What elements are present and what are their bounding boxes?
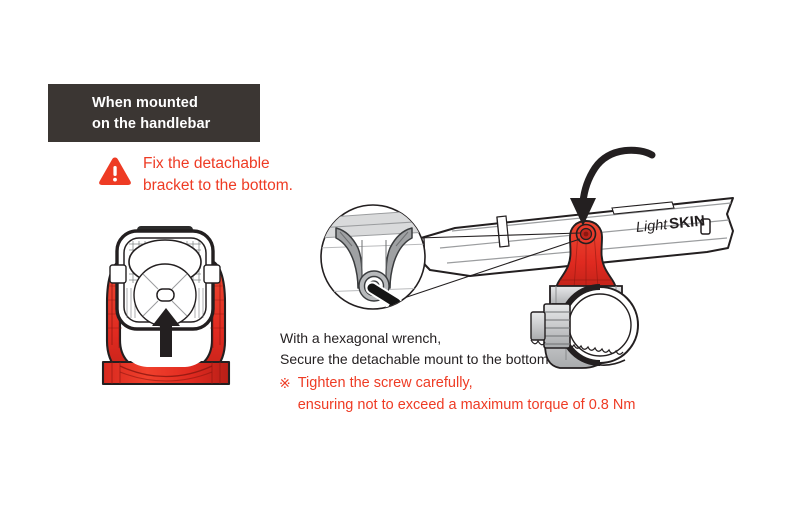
header-line-1: When mounted	[92, 93, 260, 114]
reference-mark-icon: ※	[279, 372, 291, 394]
warning-line-1: Fix the detachable	[143, 153, 293, 175]
warning-text-block: Fix the detachable bracket to the bottom…	[143, 153, 293, 197]
warning-callout: Fix the detachable bracket to the bottom…	[98, 153, 293, 197]
section-header-banner: When mounted on the handlebar	[48, 84, 260, 142]
torque-line-1: Tighten the screw carefully,	[298, 372, 636, 394]
diagram-artwork	[0, 0, 800, 510]
brand-light-text: Light	[635, 217, 668, 236]
instruction-diagram-page: LightSKIN When mounted on the handlebar …	[0, 0, 800, 510]
instruction-line-1: With a hexagonal wrench,	[280, 328, 549, 349]
warning-line-2: bracket to the bottom.	[143, 175, 293, 197]
instruction-line-2: Secure the detachable mount to the botto…	[280, 349, 549, 370]
torque-warning-note: ※ Tighten the screw carefully, ensuring …	[279, 372, 635, 416]
header-line-2: on the handlebar	[92, 114, 260, 135]
light-front-view-figure	[103, 226, 229, 384]
instruction-text-block: With a hexagonal wrench, Secure the deta…	[280, 328, 549, 370]
warning-triangle-icon	[98, 156, 132, 186]
torque-line-2: ensuring not to exceed a maximum torque …	[298, 394, 636, 416]
brand-skin-text: SKIN	[668, 212, 705, 232]
